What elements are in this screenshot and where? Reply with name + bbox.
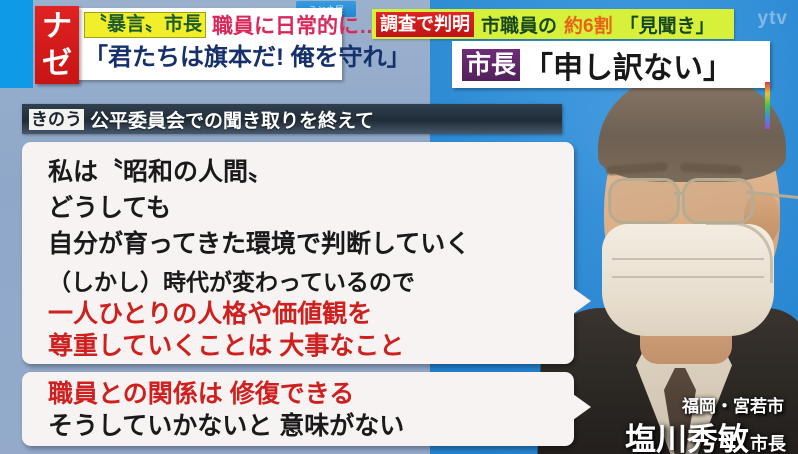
caption-name: 塩川秀敏 市長 [625,414,786,454]
quote-line-5: 一人ひとりの人格や価値観を [48,302,372,327]
broadcast-screen: ミヤネ屋 ytv ナゼ 〝暴言〟市長 職員に日常的に… 「君たちは旗本だ! 俺を… [0,0,798,454]
subtitle-text: 公平委員会での聞き取りを終えて [90,106,374,133]
headline-right-box: 市長 「申し訳ない」 [452,41,770,88]
color-bar [765,82,770,129]
band-text-2: 「見聞き」 [620,11,715,38]
band-text-1: 市職員の [481,11,557,38]
station-logo: ytv [758,8,788,30]
glasses [606,178,782,218]
mayor-apology-quote: 「申し訳ない」 [523,43,733,87]
quote-bubble-sub: 職員との関係は 修復できる そうしていかないと 意味がない [22,372,574,446]
quote-sub-line-2: そうしていかないと 意味がない [48,414,404,439]
headline-left-line2: 「君たちは旗本だ! 俺を守れ」 [84,42,411,74]
lens-left [608,178,680,224]
person-name: 塩川秀敏 [625,414,749,454]
quote-line-3: 自分が育ってきた環境で判断していく [48,232,470,257]
headline-right-band: 調査で判明 市職員の 約6割 「見聞き」 [372,9,734,39]
quote-line-1: 私は〝昭和の人間〟 [48,160,273,185]
headline-left-row1: 〝暴言〟市長 職員に日常的に… [84,12,380,38]
quote-sub-line-1: 職員との関係は 修復できる [48,382,354,407]
subtitle-bar: きのう 公平委員会での聞き取りを終えて [22,104,562,134]
quote-line-2: どうしても [48,196,171,221]
band-highlight-ratio: 約6割 [564,11,613,38]
quote-line-4: （しかし）時代が変わっているので [48,270,415,295]
person-title: 市長 [750,430,786,454]
quote-bubble-main: 私は〝昭和の人間〟 どうしても 自分が育ってきた環境で判断していく （しかし）時… [22,142,574,364]
bubble-tail [573,288,591,314]
headline-left-line1: 職員に日常的に… [212,10,380,40]
glasses-bridge [674,192,684,195]
left-blue-strip [0,0,33,88]
badge-bougen-mayor: 〝暴言〟市長 [84,12,206,38]
badge-mayor: 市長 [462,49,520,81]
lens-right [682,178,754,224]
quote-line-6: 尊重していくことは 大事なこと [48,334,404,359]
badge-survey-result: 調査で判明 [376,12,474,37]
kicker-naze: ナゼ [35,6,79,84]
day-badge: きのう [29,109,84,130]
bubble-tail [573,394,591,420]
